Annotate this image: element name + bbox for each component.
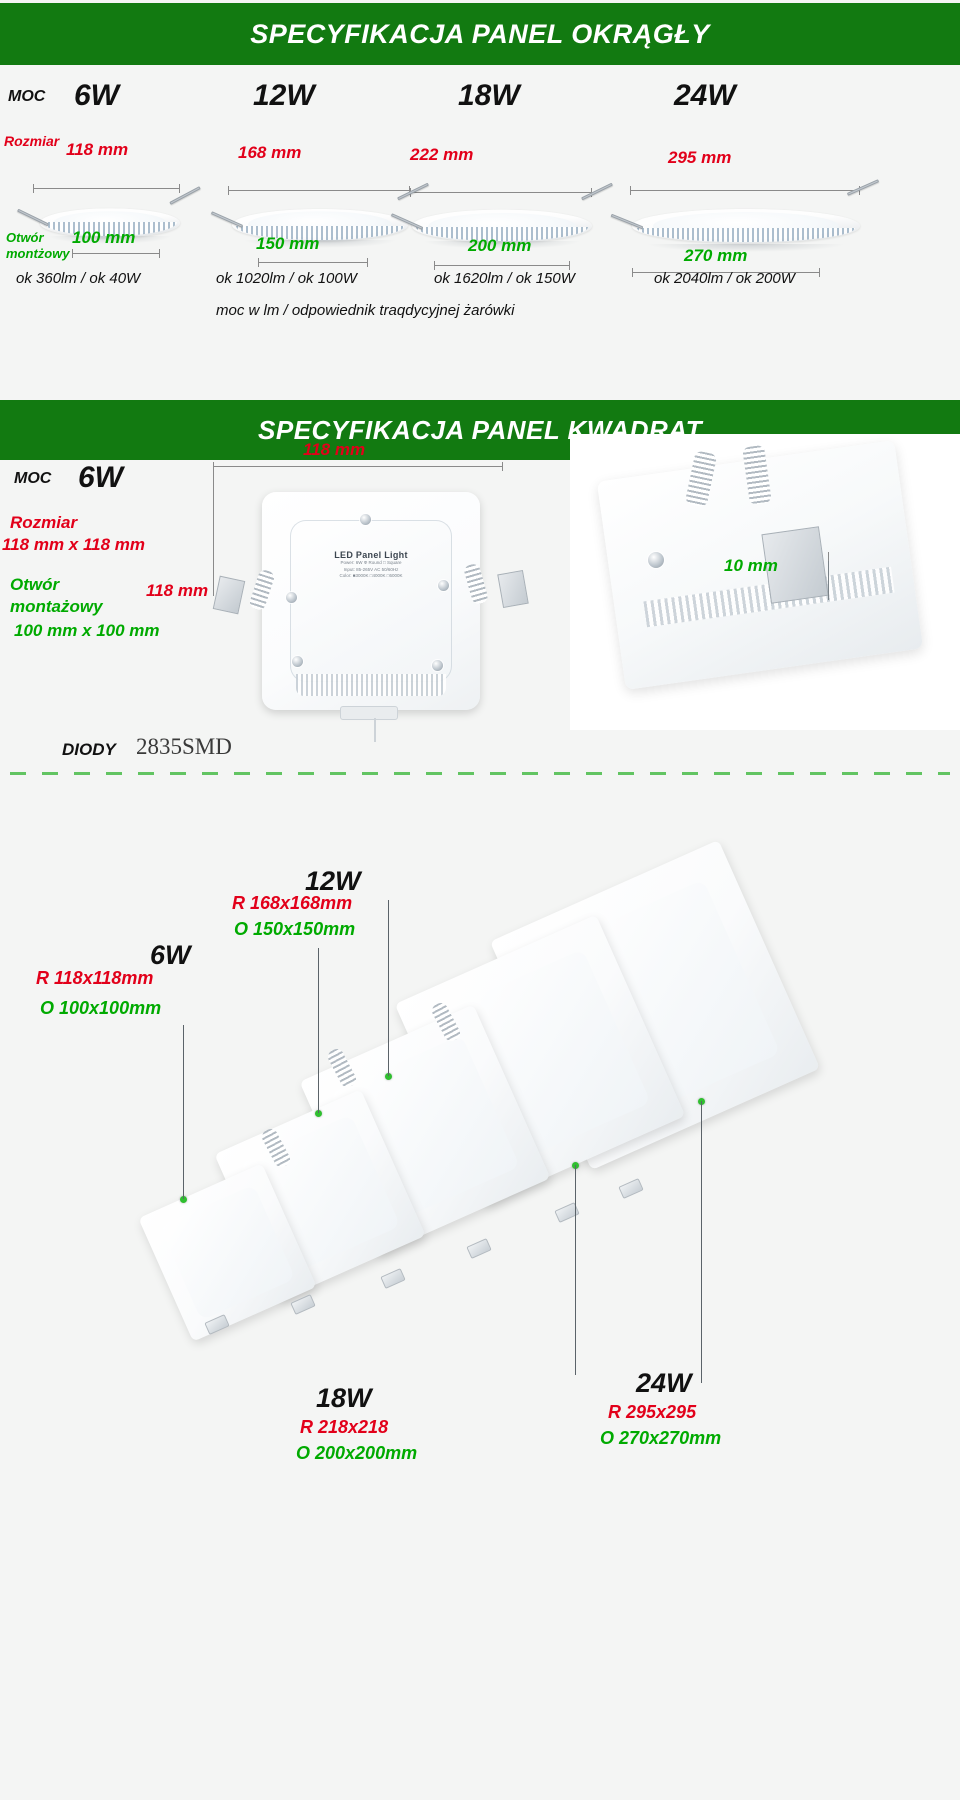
stack-power-6w: 6W	[150, 940, 191, 971]
round-size-6w: 118 mm	[66, 140, 128, 160]
round-size-label: Rozmiar	[4, 133, 59, 149]
stack-size-24w: R 295x295	[608, 1402, 696, 1423]
square-dimline-top	[213, 466, 503, 467]
stack-tab	[618, 1178, 643, 1199]
round-panel-18w	[412, 178, 592, 274]
round-hole-18w: 200 mm	[468, 236, 531, 256]
square-size-value: 118 mm x 118 mm	[2, 535, 145, 555]
round-power-24w: 24W	[674, 79, 736, 113]
square-side-view-image	[570, 434, 960, 730]
square-hole-label-line2: montażowy	[10, 597, 103, 617]
square-size-label: Rozmiar	[10, 513, 77, 533]
round-dimline-hole-6w	[72, 253, 160, 254]
square-hole-value: 100 mm x 100 mm	[14, 621, 160, 641]
stack-tab	[466, 1238, 491, 1259]
stack-size-12w: R 168x168mm	[232, 893, 352, 914]
square-hole-label-line1: Otwór	[10, 575, 59, 595]
square-moc-label: MOC	[14, 470, 51, 488]
square-panel-image: LED Panel Light Power: 6W Φ Round □ Squa…	[262, 492, 480, 710]
diody-value: 2835SMD	[136, 734, 232, 760]
stack-power-18w: 18W	[316, 1383, 372, 1414]
round-section-header: SPECYFIKACJA PANEL OKRĄGŁY	[0, 3, 960, 65]
square-product-label-color: Color: ■3000K □4000K □6000K	[310, 573, 432, 580]
stack-tab	[380, 1268, 405, 1289]
round-size-18w: 222 mm	[410, 145, 473, 165]
round-lumen-12w: ok 1020lm / ok 100W	[216, 270, 357, 287]
round-hole-24w: 270 mm	[684, 246, 747, 266]
round-size-12w: 168 mm	[238, 143, 301, 163]
square-dimline-left-vert	[213, 466, 214, 596]
stack-hole-12w: O 150x150mm	[234, 919, 355, 940]
square-power: 6W	[78, 461, 123, 495]
leader-12w	[318, 948, 319, 1113]
round-section-title: SPECYFIKACJA PANEL OKRĄGŁY	[250, 19, 710, 50]
diody-label: DIODY	[62, 740, 116, 760]
square-left-dim: 118 mm	[146, 581, 208, 601]
round-power-6w: 6W	[74, 79, 119, 113]
square-product-label-title: LED Panel Light	[310, 550, 432, 560]
stack-hole-24w: O 270x270mm	[600, 1428, 721, 1449]
leader-18w	[575, 1165, 576, 1375]
stack-tab	[290, 1294, 315, 1315]
leader-6w	[183, 1025, 184, 1199]
round-hole-label-line1: Otwór	[6, 230, 44, 245]
stack-size-6w: R 118x118mm	[36, 968, 153, 989]
round-power-12w: 12W	[253, 79, 315, 113]
stack-power-24w: 24W	[636, 1368, 692, 1399]
stack-size-18w: R 218x218	[300, 1417, 388, 1438]
round-power-18w: 18W	[458, 79, 520, 113]
round-hole-label-line2: montżowy	[6, 246, 70, 261]
round-lumen-24w: ok 2040lm / ok 200W	[654, 270, 795, 287]
round-dimline-hole-18w	[434, 265, 570, 266]
square-top-dim: 118 mm	[303, 440, 365, 460]
square-product-label: LED Panel Light Power: 6W Φ Round □ Squa…	[310, 550, 432, 580]
stack-hole-6w: O 100x100mm	[40, 998, 161, 1019]
round-moc-label: MOC	[8, 88, 45, 106]
round-footer-caption: moc w lm / odpowiednik traqdycyjnej żaró…	[216, 302, 514, 319]
leader-12w-upper	[388, 900, 389, 1076]
square-thickness-dim: 10 mm	[724, 556, 778, 576]
section-divider	[10, 772, 950, 775]
round-size-24w: 295 mm	[668, 148, 731, 168]
stack-hole-18w: O 200x200mm	[296, 1443, 417, 1464]
round-lumen-6w: ok 360lm / ok 40W	[16, 270, 140, 287]
round-hole-12w: 150 mm	[256, 234, 319, 254]
stack-diagram	[0, 1010, 960, 1710]
round-lumen-18w: ok 1620lm / ok 150W	[434, 270, 575, 287]
leader-24w	[701, 1101, 702, 1383]
round-dimline-hole-12w	[258, 262, 368, 263]
round-hole-6w: 100 mm	[72, 228, 135, 248]
